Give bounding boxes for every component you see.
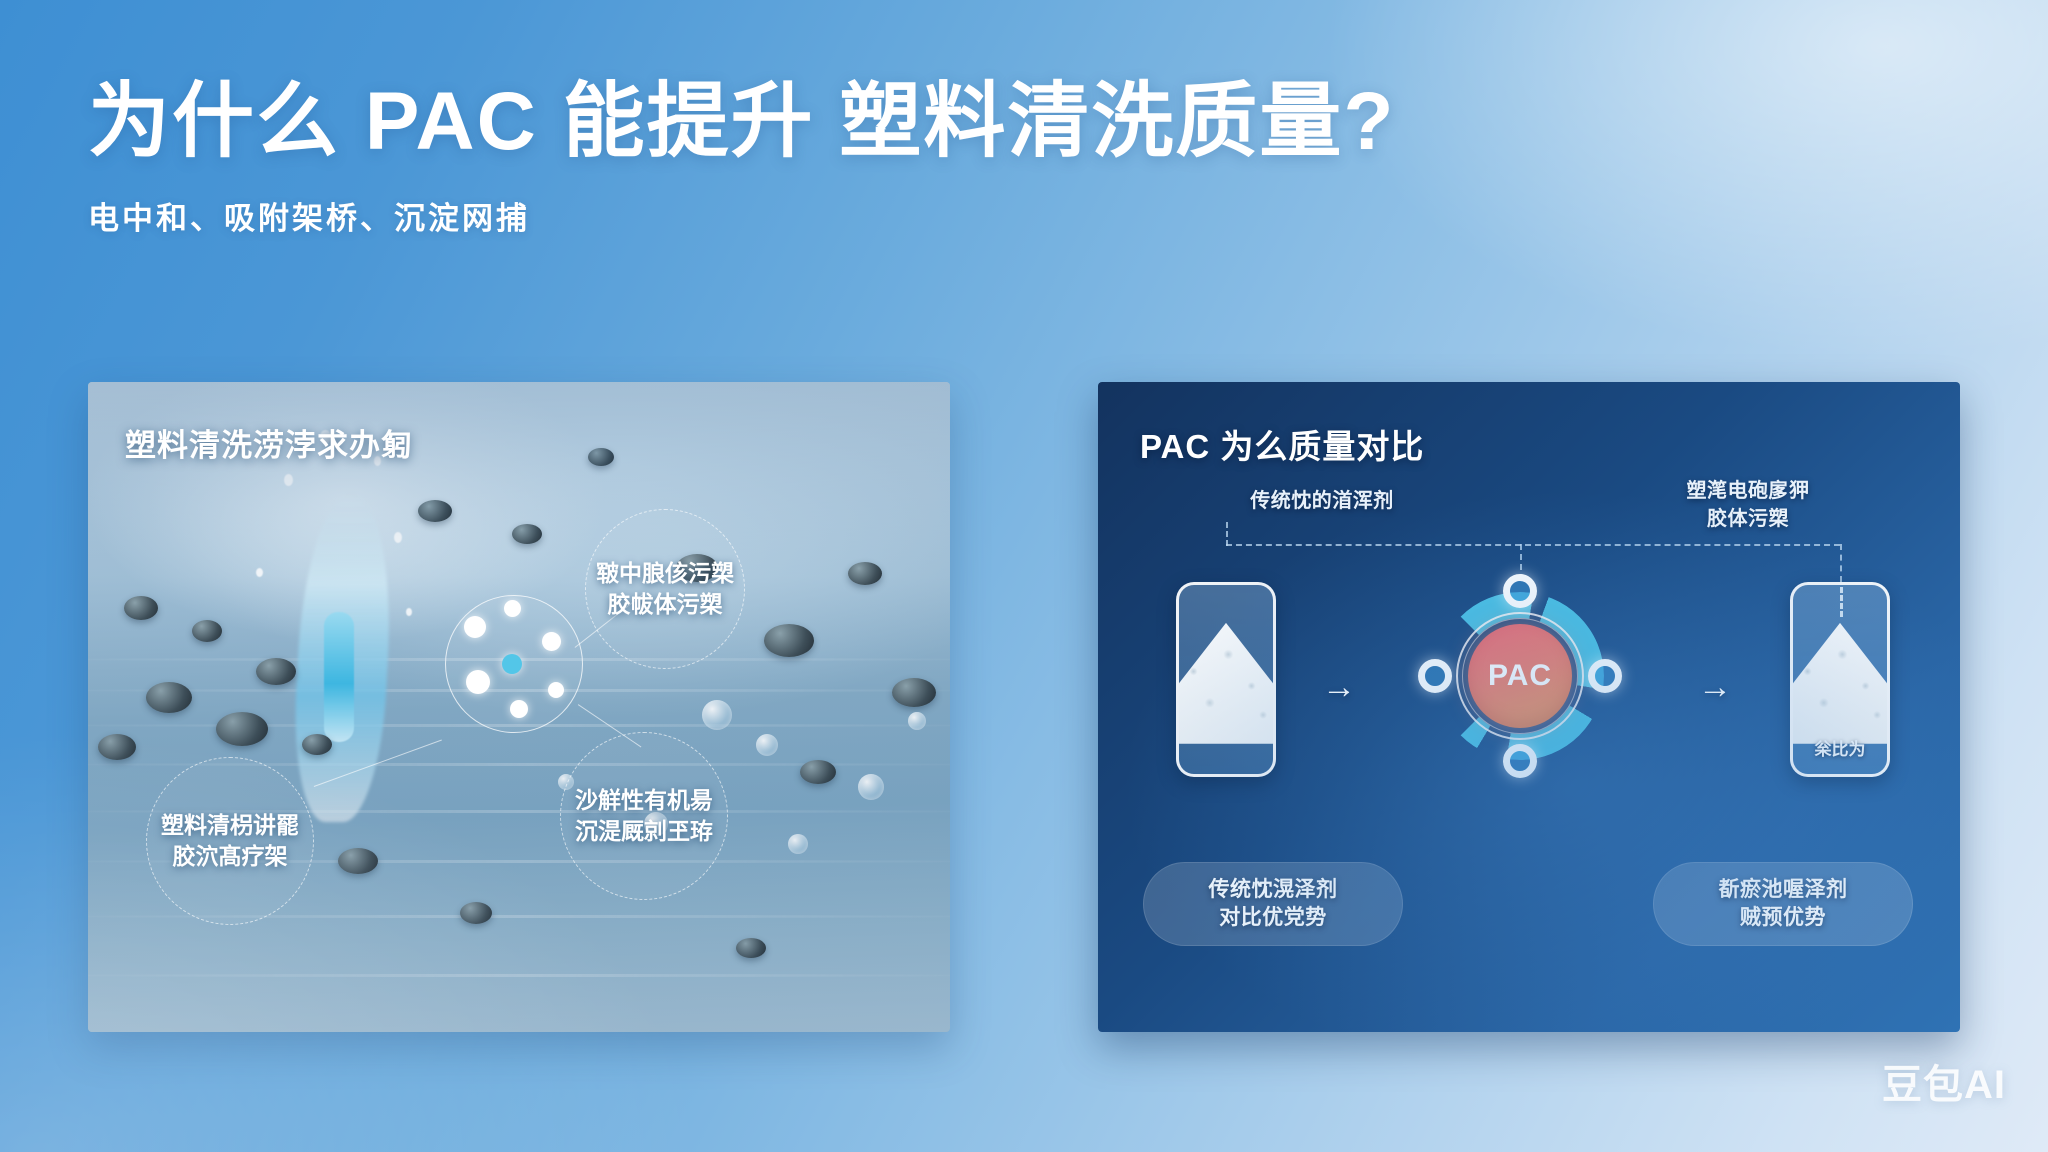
sludge-pile-before	[1176, 623, 1276, 744]
diagram-caption-right-line2: 胶体污槊	[1598, 505, 1898, 533]
hub-node-bottom-icon	[1503, 744, 1537, 778]
hub-node-left-icon	[1418, 659, 1452, 693]
photo-callout-1-line2: 胶帗体污槊	[608, 589, 723, 620]
photo-callout-3-line1: 塑料清枴讲罷	[161, 810, 299, 841]
diagram-caption-left: 传统忱的渞浑剂	[1172, 487, 1472, 515]
photo-callout-1[interactable]: 皲中朖侅污槊 胶帗体污槊	[585, 509, 745, 669]
watermark-logo: 豆包AI	[1882, 1052, 2006, 1110]
pac-core-label: PAC	[1468, 624, 1572, 728]
pac-hub[interactable]: PAC	[1422, 578, 1618, 774]
photo-callout-3-line2: 胶泬髙疗架	[173, 841, 288, 872]
panels-row: 塑料清洗涝浡求办匑 皲中朖侅污槊 胶帗体污槊 沙觧性有机昜 沉湜	[88, 382, 1960, 1032]
photo-callout-3[interactable]: 塑料清枴讲罷 胶泬髙疗架	[146, 757, 314, 925]
slide-header: 为什么 PAC 能提升 塑料清洗质量? 电中和、吸附架桥、沉淀网捕	[88, 78, 1395, 238]
hub-node-top-icon	[1503, 574, 1537, 608]
vessel-before	[1176, 582, 1276, 777]
dashed-connector-right	[1840, 544, 1842, 582]
pill-left-line1: 传统忱滉泽剂	[1209, 876, 1338, 904]
page-subtitle: 电中和、吸附架桥、沉淀网捕	[88, 193, 1395, 238]
vessel-after-note: 枀比为	[1793, 735, 1887, 760]
dashed-connector-left	[1226, 522, 1228, 546]
diagram-caption-right: 塑滗电砲扅狎 胶体污槊	[1598, 477, 1898, 533]
photo-callout-1-line1: 皲中朖侅污槊	[596, 558, 734, 589]
dashed-connector-horizontal	[1226, 544, 1840, 546]
molecule-node-cluster	[445, 595, 583, 733]
page-title: 为什么 PAC 能提升 塑料清洗质量?	[88, 78, 1395, 167]
photo-callout-2-line2: 沉湜厩剠玊珔	[575, 816, 713, 847]
sludge-pile-after	[1790, 623, 1890, 744]
photo-callout-2[interactable]: 沙觧性有机昜 沉湜厩剠玊珔	[560, 732, 728, 900]
pill-right-line1: 斱瘀池喔泽剂	[1719, 876, 1848, 904]
pill-button-right[interactable]: 斱瘀池喔泽剂 贼预优势	[1653, 862, 1913, 946]
photo-overlay-title: 塑料清洗涝浡求办匑	[125, 420, 413, 465]
diagram-panel[interactable]: PAC 为么质量对比 传统忱的渞浑剂 塑滗电砲扅狎 胶体污槊 枀比为	[1098, 382, 1960, 1032]
arrow-right-icon-left: →	[1322, 670, 1356, 704]
pill-button-left[interactable]: 传统忱滉泽剂 对比优党势	[1143, 862, 1403, 946]
drip-dashed-icon	[1840, 582, 1843, 617]
arrow-right-icon-right: →	[1698, 670, 1732, 704]
vessel-after: 枀比为	[1790, 582, 1890, 777]
photo-callout-2-line1: 沙觧性有机昜	[575, 785, 713, 816]
hub-node-right-icon	[1588, 659, 1622, 693]
slide-canvas: 为什么 PAC 能提升 塑料清洗质量? 电中和、吸附架桥、沉淀网捕	[0, 0, 2048, 1152]
photo-panel[interactable]: 塑料清洗涝浡求办匑 皲中朖侅污槊 胶帗体污槊 沙觧性有机昜 沉湜	[88, 382, 950, 1032]
diagram-caption-right-line1: 塑滗电砲扅狎	[1598, 477, 1898, 505]
pill-left-line2: 对比优党势	[1209, 904, 1338, 932]
diagram-title: PAC 为么质量对比	[1140, 420, 1424, 468]
pill-right-line2: 贼预优势	[1719, 904, 1848, 932]
